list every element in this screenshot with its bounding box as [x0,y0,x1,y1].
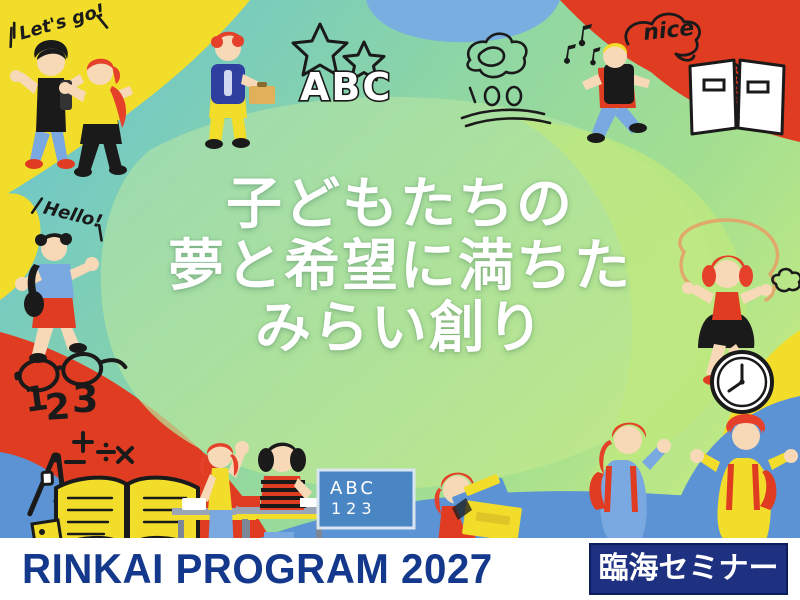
blackboard: ABC 123 [318,470,414,528]
wall-clock [712,352,772,412]
program-title: RINKAI PROGRAM 2027 [22,547,493,591]
svg-text:ABC: ABC [300,65,392,109]
logo-text: 臨海セミナー [599,554,779,584]
rinkai-seminar-logo: 臨海セミナー [589,543,788,595]
svg-text:3: 3 [72,377,98,421]
svg-text:nice: nice [642,16,696,46]
open-book-yellow [56,478,198,538]
abc-bubble-doodle: ABC [300,65,392,109]
illustration-canvas: ABC Let's go! Hello! [0,0,800,538]
poster-root: ABC Let's go! Hello! [0,0,800,600]
blackboard-abc-text: ABC [330,478,376,499]
blackboard-123-text: 123 [331,499,377,518]
pennant-yellow [32,520,62,538]
svg-text:2: 2 [44,386,72,429]
